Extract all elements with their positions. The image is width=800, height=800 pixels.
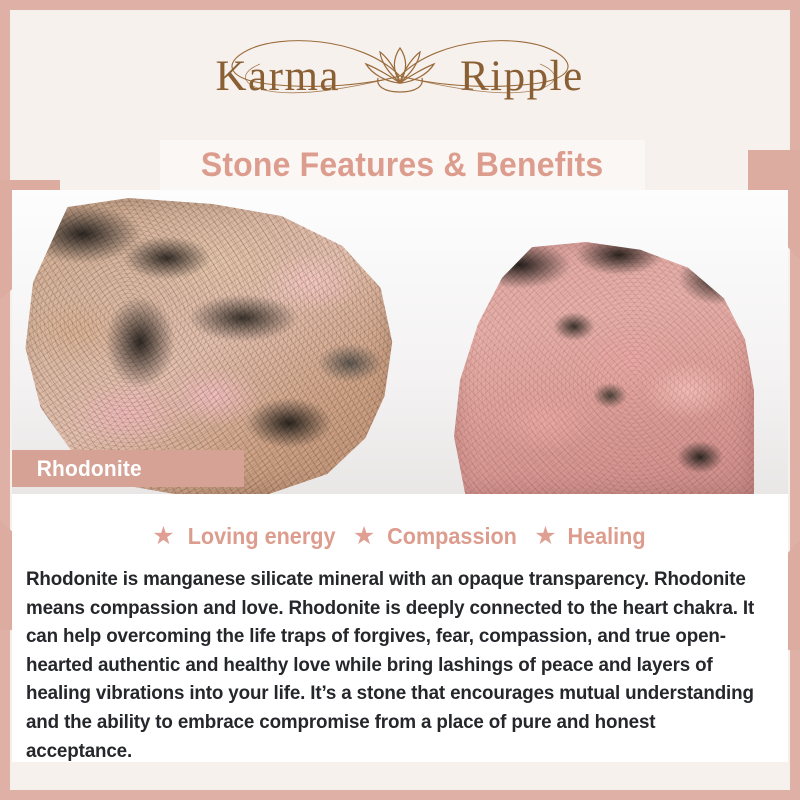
benefit-label: Compassion: [387, 523, 517, 550]
stone-name-badge: Rhodonite: [12, 450, 244, 487]
title-banner: Stone Features & Benefits: [160, 140, 645, 190]
star-icon: ★: [353, 524, 375, 549]
frame-edge-top: [0, 0, 800, 10]
brand-logo: Karma Ripple: [0, 26, 800, 126]
stone-description: Rhodonite is manganese silicate mineral …: [26, 566, 763, 766]
stone-texture-right: [454, 242, 754, 495]
stone-name-text: Rhodonite: [37, 456, 142, 482]
lotus-flower-icon: [366, 48, 434, 92]
content-card: ★ Loving energy ★ Compassion ★ Healing R…: [12, 494, 788, 762]
brand-word-left: Karma: [216, 53, 341, 100]
brand-word-right: Ripple: [460, 53, 584, 100]
frame-edge-bottom: [0, 790, 800, 800]
brand-logo-artwork: Karma Ripple: [190, 28, 610, 124]
star-icon: ★: [152, 524, 174, 549]
benefit-label: Loving energy: [187, 523, 335, 550]
stone-infographic: Karma Ripple Stone Features & Benefits R…: [0, 0, 800, 800]
rhodonite-rough-specimen-right: [412, 190, 788, 495]
benefit-item-healing: ★ Healing: [534, 523, 648, 550]
benefits-row: ★ Loving energy ★ Compassion ★ Healing: [12, 512, 788, 560]
benefit-label: Healing: [567, 523, 645, 550]
benefit-item-compassion: ★ Compassion: [353, 523, 521, 550]
star-icon: ★: [534, 524, 556, 549]
benefit-item-loving-energy: ★ Loving energy: [152, 523, 340, 550]
page-title: Stone Features & Benefits: [201, 146, 604, 185]
